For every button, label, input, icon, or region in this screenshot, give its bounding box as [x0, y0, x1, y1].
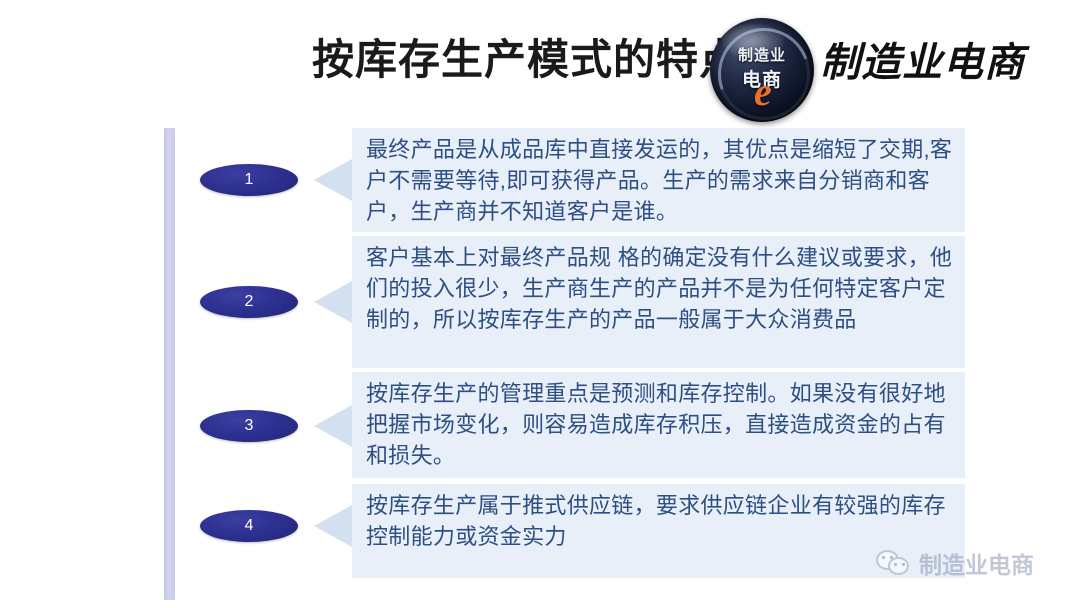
callout-text-3: 按库存生产的管理重点是预测和库存控制。如果没有很好地把握市场变化，则容易造成库存… — [352, 372, 965, 478]
callout-text-1: 最终产品是从成品库中直接发运的，其优点是缩短了交期,客户不需要等待,即可获得产品… — [352, 128, 965, 232]
callout-text-4: 按库存生产属于推式供应链，要求供应链企业有较强的库存控制能力或资金实力 — [352, 484, 965, 578]
bullet-number-2: 2 — [200, 286, 298, 318]
slide-header: 按库存生产模式的特点 制造业 电商 e 制造业电商 — [0, 0, 1080, 118]
watermark: 制造业电商 — [876, 546, 1034, 580]
logo-top-text: 制造业 — [710, 44, 814, 65]
watermark-label: 制造业电商 — [919, 546, 1034, 580]
callout-arrow-3 — [314, 405, 352, 447]
brand-logo-icon: 制造业 电商 e — [710, 18, 814, 122]
page-title: 按库存生产模式的特点 — [312, 34, 742, 86]
wechat-icon — [876, 550, 910, 576]
slide-canvas: 按库存生产模式的特点 制造业 电商 e 制造业电商 1 最终产品是从成品库中直接… — [0, 0, 1080, 608]
bullet-number-3: 3 — [200, 410, 298, 442]
callout-text-2: 客户基本上对最终产品规 格的确定没有什么建议或要求，他们的投入很少，生产商生产的… — [352, 236, 965, 368]
logo-e-mark-icon: e — [754, 72, 772, 112]
callout-arrow-4 — [314, 505, 352, 547]
vertical-spine-bar — [164, 128, 175, 600]
callout-arrow-1 — [314, 159, 352, 201]
bullet-number-4: 4 — [200, 510, 298, 542]
brand-name: 制造业电商 — [820, 38, 1025, 88]
callout-arrow-2 — [314, 281, 352, 323]
bullet-number-1: 1 — [200, 164, 298, 196]
